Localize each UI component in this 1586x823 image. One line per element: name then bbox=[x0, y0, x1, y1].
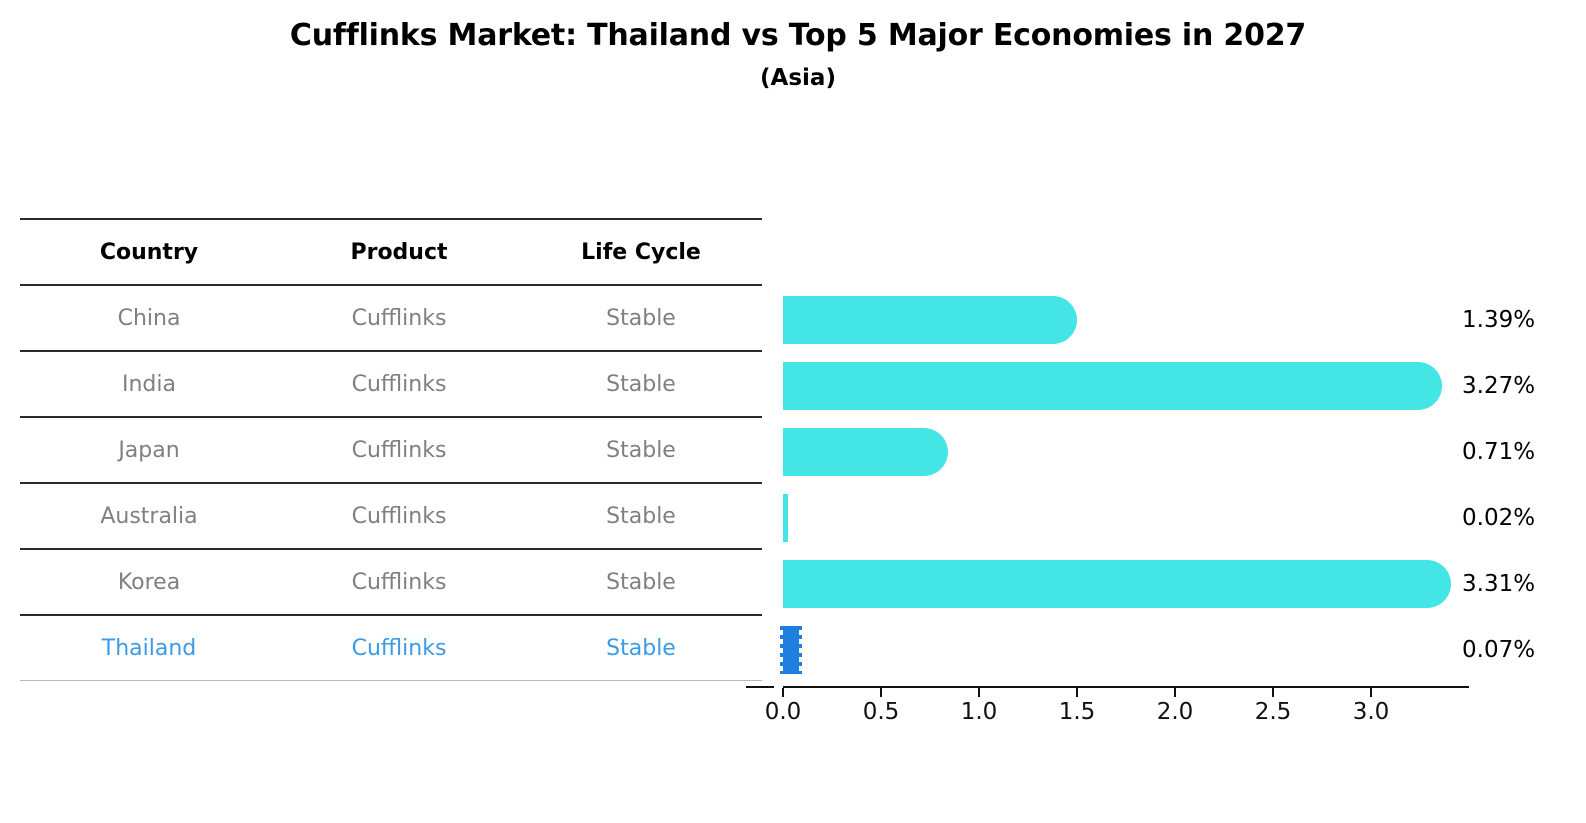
bar-thailand[interactable] bbox=[783, 626, 799, 674]
bar-korea[interactable] bbox=[783, 560, 1451, 608]
x-axis-tick-label: 0.5 bbox=[863, 699, 900, 725]
x-axis-tick-label: 3.0 bbox=[1353, 699, 1390, 725]
cell-life-cycle: Stable bbox=[520, 306, 762, 331]
bar-australia[interactable] bbox=[783, 494, 788, 542]
chart-title: Cufflinks Market: Thailand vs Top 5 Majo… bbox=[10, 14, 1586, 58]
value-label-china: 1.39% bbox=[1462, 307, 1535, 333]
x-axis-tick bbox=[978, 688, 980, 697]
value-label-thailand: 0.07% bbox=[1462, 637, 1535, 663]
x-axis-tick bbox=[880, 688, 882, 697]
x-axis-tick-label: 1.0 bbox=[961, 699, 998, 725]
x-axis-tick-label: 2.0 bbox=[1157, 699, 1194, 725]
x-axis-tick bbox=[782, 688, 784, 697]
bar-china[interactable] bbox=[783, 296, 1077, 344]
x-axis-tick bbox=[1076, 688, 1078, 697]
value-label-korea: 3.31% bbox=[1462, 571, 1535, 597]
x-axis-tick-label: 0.0 bbox=[765, 699, 802, 725]
cell-product: Cufflinks bbox=[278, 372, 520, 397]
table-bottom-rule bbox=[20, 680, 762, 681]
cell-life-cycle: Stable bbox=[520, 636, 762, 661]
x-axis-tick bbox=[1370, 688, 1372, 697]
cell-life-cycle: Stable bbox=[520, 504, 762, 529]
cell-product: Cufflinks bbox=[278, 306, 520, 331]
cell-country: India bbox=[20, 372, 278, 397]
x-axis-tick bbox=[1174, 688, 1176, 697]
x-axis-tick-label: 2.5 bbox=[1255, 699, 1292, 725]
table-row[interactable]: India Cufflinks Stable bbox=[20, 352, 762, 416]
cell-product: Cufflinks bbox=[278, 570, 520, 595]
axis-left-stub bbox=[746, 686, 774, 688]
table-row[interactable]: Japan Cufflinks Stable bbox=[20, 418, 762, 482]
cell-life-cycle: Stable bbox=[520, 438, 762, 463]
cell-country: Australia bbox=[20, 504, 278, 529]
cell-country: Thailand bbox=[20, 636, 278, 661]
bar-india[interactable] bbox=[783, 362, 1442, 410]
column-header-product: Product bbox=[278, 240, 520, 265]
table-row-highlighted[interactable]: Thailand Cufflinks Stable bbox=[20, 616, 762, 680]
table-row[interactable]: China Cufflinks Stable bbox=[20, 286, 762, 350]
x-axis-line bbox=[783, 686, 1469, 688]
bar-japan[interactable] bbox=[783, 428, 948, 476]
value-label-india: 3.27% bbox=[1462, 373, 1535, 399]
cell-country: Korea bbox=[20, 570, 278, 595]
table-row[interactable]: Korea Cufflinks Stable bbox=[20, 550, 762, 614]
column-header-life-cycle: Life Cycle bbox=[520, 240, 762, 265]
x-axis-tick-label: 1.5 bbox=[1059, 699, 1096, 725]
x-axis-tick bbox=[1272, 688, 1274, 697]
cell-product: Cufflinks bbox=[278, 438, 520, 463]
cell-product: Cufflinks bbox=[278, 636, 520, 661]
cell-life-cycle: Stable bbox=[520, 570, 762, 595]
value-label-australia: 0.02% bbox=[1462, 505, 1535, 531]
chart-subtitle: (Asia) bbox=[10, 58, 1586, 98]
cell-country: Japan bbox=[20, 438, 278, 463]
country-table: Country Product Life Cycle China Cufflin… bbox=[20, 218, 762, 681]
table-header-row: Country Product Life Cycle bbox=[20, 220, 762, 284]
cell-life-cycle: Stable bbox=[520, 372, 762, 397]
title-block: Cufflinks Market: Thailand vs Top 5 Majo… bbox=[0, 14, 1586, 98]
column-header-country: Country bbox=[20, 240, 278, 265]
value-label-japan: 0.71% bbox=[1462, 439, 1535, 465]
cell-product: Cufflinks bbox=[278, 504, 520, 529]
cell-country: China bbox=[20, 306, 278, 331]
table-row[interactable]: Australia Cufflinks Stable bbox=[20, 484, 762, 548]
